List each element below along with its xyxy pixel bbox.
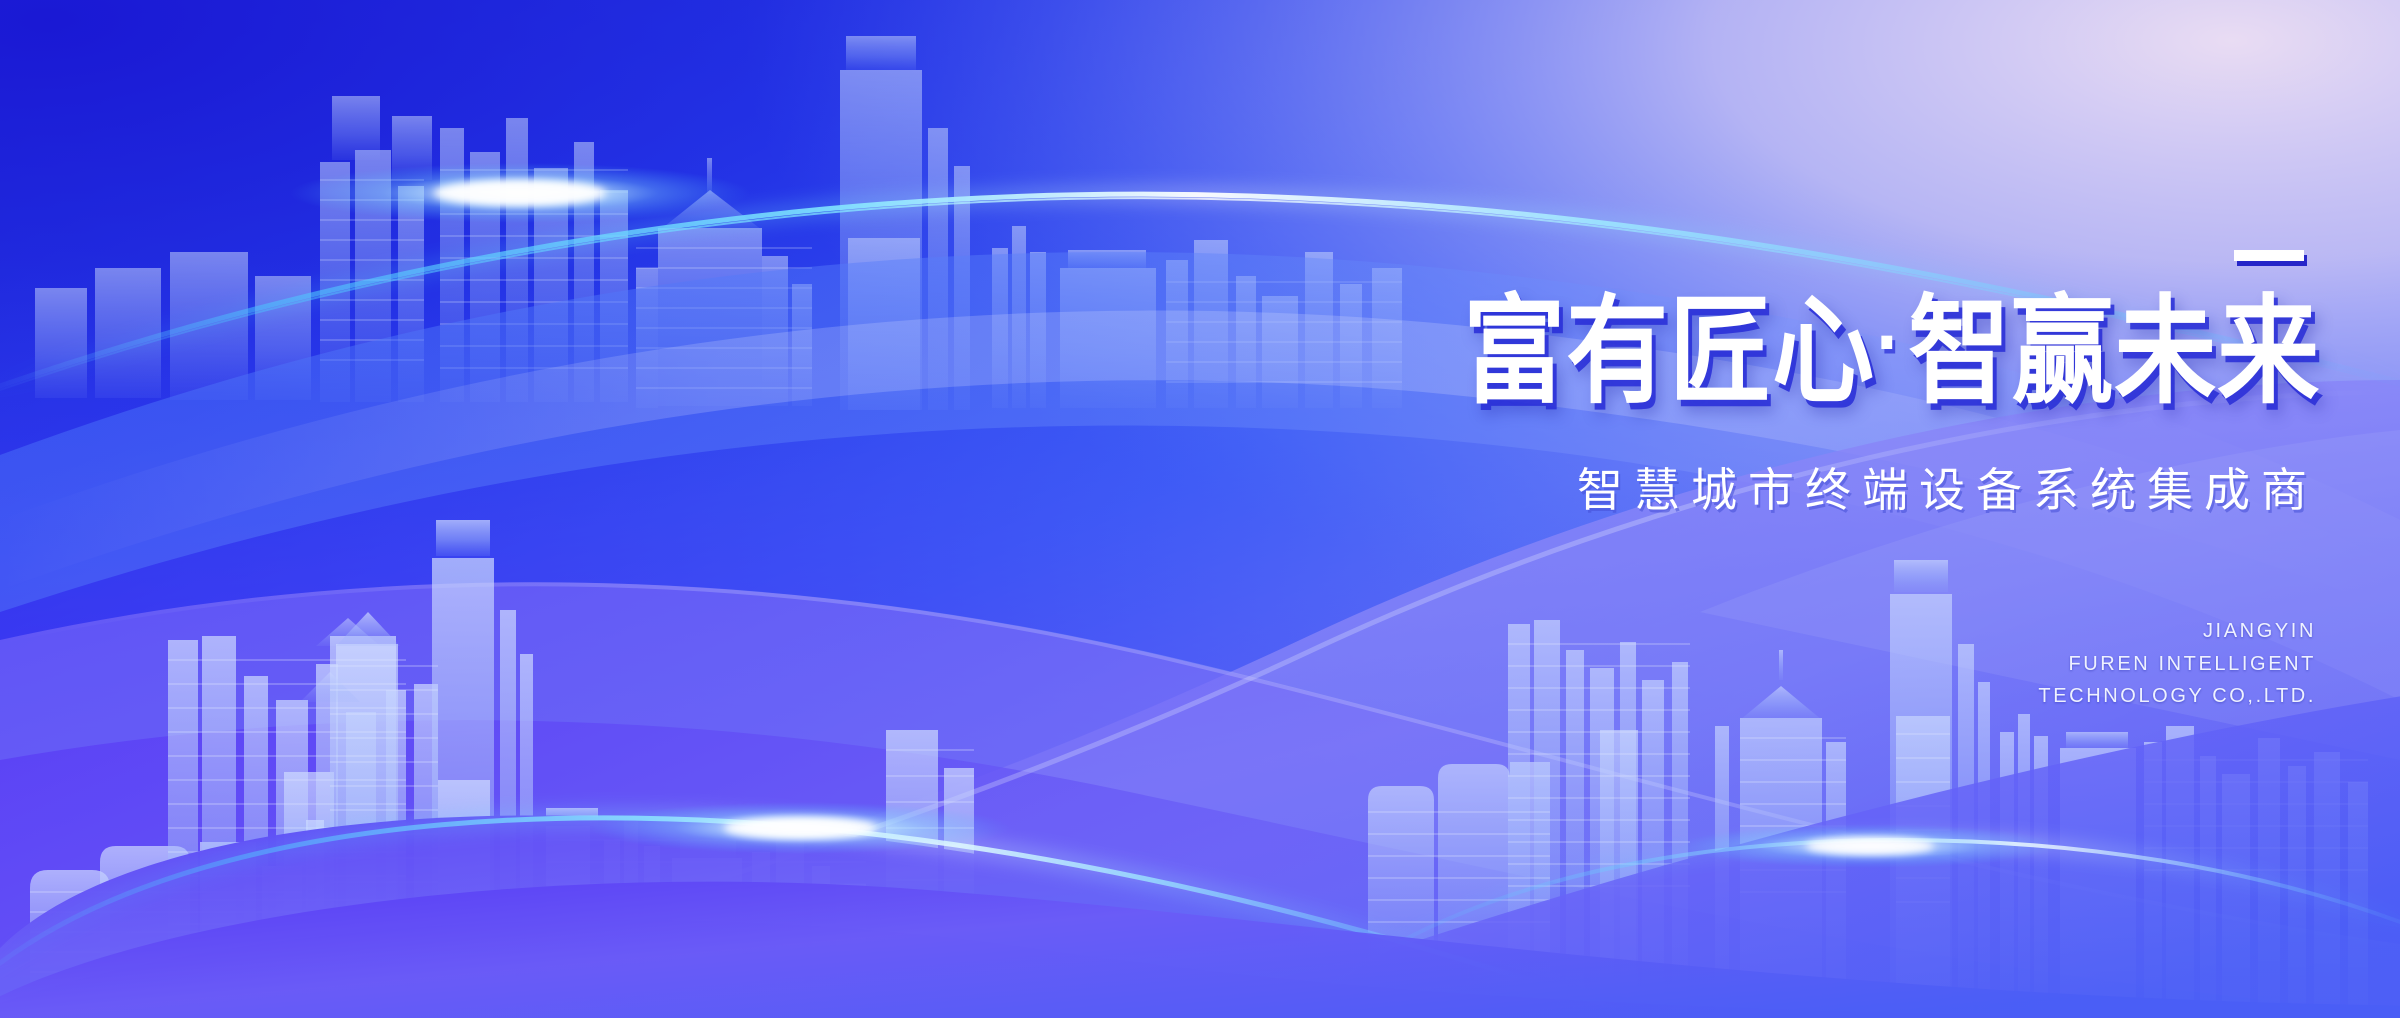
headline-right: 智赢未来 — [1908, 284, 2320, 421]
company-name-block: JIANGYIN FUREN INTELLIGENT TECHNOLOGY CO… — [1050, 615, 2340, 712]
banner-root: 富有匠心·智赢未来 智慧城市终端设备系统集成商 JIANGYIN FUREN I… — [0, 0, 2400, 1018]
headline-left: 富有匠心 — [1463, 284, 1875, 421]
company-line-name: FUREN INTELLIGENT — [1050, 648, 2316, 680]
subtitle: 智慧城市终端设备系统集成商 — [1050, 454, 2340, 520]
headline-separator-dot: · — [1875, 301, 1908, 384]
company-line-city: JIANGYIN — [1050, 615, 2316, 647]
company-line-suffix: TECHNOLOGY CO,.LTD. — [1050, 680, 2316, 712]
page-title: 富有匠心·智赢未来 — [1063, 290, 2340, 413]
headline-block: 富有匠心·智赢未来 智慧城市终端设备系统集成商 JIANGYIN FUREN I… — [1050, 250, 2340, 712]
top-dash-decoration — [2234, 250, 2304, 261]
